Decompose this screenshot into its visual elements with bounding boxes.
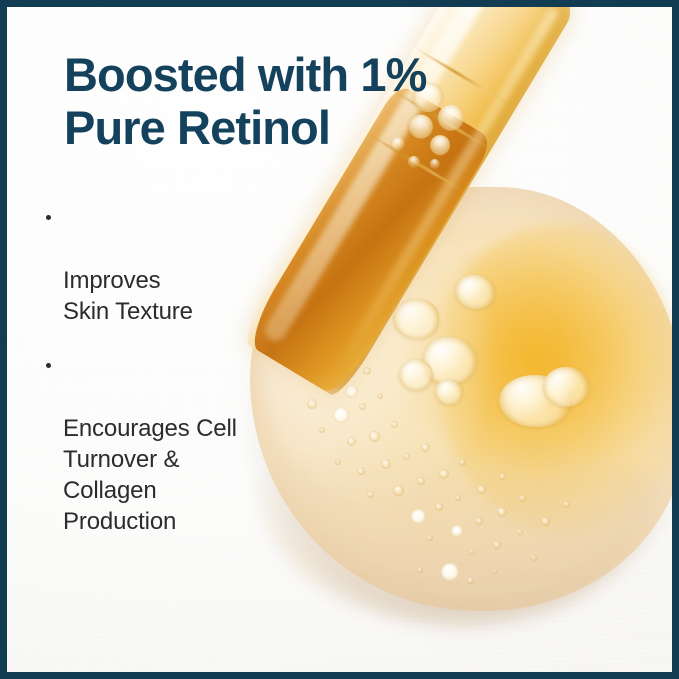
serum-bubble <box>517 529 523 535</box>
page-title: Boosted with 1% Pure Retinol <box>64 48 584 154</box>
serum-bubble-large <box>543 367 589 407</box>
serum-bubble <box>333 407 349 423</box>
serum-bubble-large <box>455 275 495 309</box>
serum-bubble <box>435 503 443 511</box>
serum-bubble <box>493 569 498 574</box>
serum-bubble <box>357 467 365 475</box>
serum-bubble <box>391 421 398 428</box>
serum-bubble-large <box>393 299 439 339</box>
serum-bubble <box>427 535 433 541</box>
serum-bubble <box>335 459 341 465</box>
serum-bubble <box>411 509 426 524</box>
serum-bubble <box>455 495 461 501</box>
benefits-list: Improves Skin Texture Encourages Cell Tu… <box>45 203 313 537</box>
serum-bubble <box>497 507 507 517</box>
serum-bubble <box>531 555 537 561</box>
list-item-label: Encourages Cell Turnover & Collagen Prod… <box>63 415 237 535</box>
promo-canvas: Boosted with 1% Pure Retinol Improves Sk… <box>7 7 672 672</box>
serum-bubble <box>467 577 474 584</box>
bullet-dot-icon <box>46 215 51 220</box>
serum-bubble <box>477 485 486 494</box>
serum-bubble <box>319 427 325 433</box>
serum-bubble <box>363 367 371 375</box>
promo-card: Boosted with 1% Pure Retinol Improves Sk… <box>0 0 679 679</box>
bullet-dot-icon <box>46 363 51 368</box>
serum-bubble <box>441 563 459 581</box>
serum-bubble <box>417 567 423 573</box>
serum-bubble <box>421 443 430 452</box>
serum-bubble <box>369 431 380 442</box>
serum-bubble <box>347 437 356 446</box>
serum-bubble <box>541 517 550 526</box>
serum-bubble <box>469 549 475 555</box>
serum-bubble <box>519 495 526 502</box>
serum-bubble <box>493 541 501 549</box>
serum-bubble <box>381 459 391 469</box>
serum-bubble <box>563 501 570 508</box>
list-item-label: Improves Skin Texture <box>63 267 193 325</box>
list-item: Improves Skin Texture <box>45 203 313 327</box>
serum-bubble <box>367 491 374 498</box>
serum-bubble <box>439 469 449 479</box>
serum-bubble <box>451 525 463 537</box>
serum-bubble <box>393 485 404 496</box>
list-item: Encourages Cell Turnover & Collagen Prod… <box>45 351 313 537</box>
serum-bubble <box>499 473 506 480</box>
serum-bubble <box>459 459 466 466</box>
serum-bubble-large <box>435 379 463 405</box>
serum-bubble <box>345 385 358 398</box>
serum-bubble-large <box>399 359 433 391</box>
serum-bubble <box>417 477 425 485</box>
serum-bubble <box>377 393 383 399</box>
serum-bubble <box>475 517 483 525</box>
serum-bubble <box>403 453 410 460</box>
serum-bubble <box>359 403 366 410</box>
